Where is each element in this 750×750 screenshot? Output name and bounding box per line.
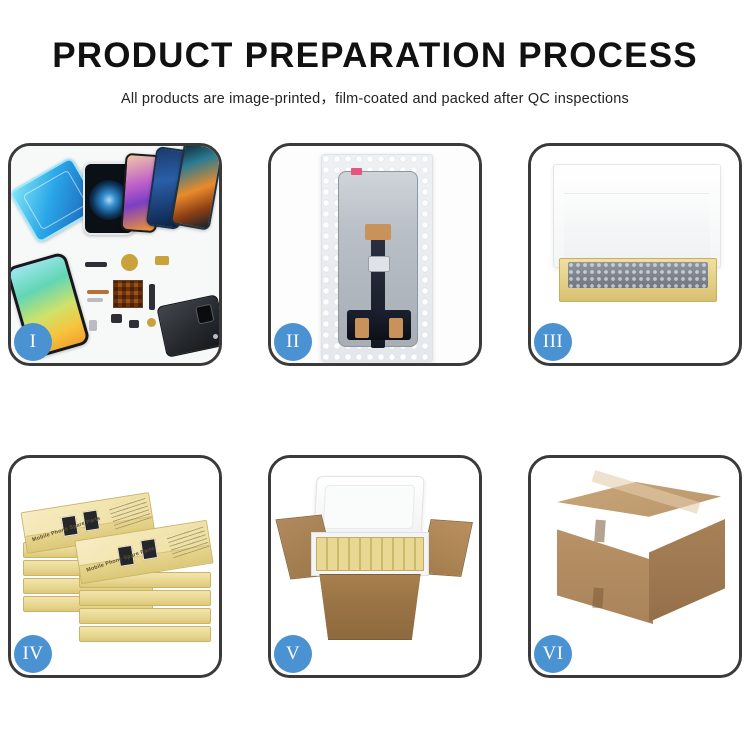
page-subtitle: All products are image-printed，film-coat… bbox=[0, 87, 750, 108]
product-preparation-process-page: PRODUCT PREPARATION PROCESS All products… bbox=[0, 0, 750, 750]
part-bracket bbox=[87, 298, 103, 302]
foam-lid-open bbox=[313, 476, 424, 538]
foam-lid-sheet bbox=[553, 164, 721, 268]
process-step-panel-4: Mobile Phone Spare Parts Mobile Phone Sp… bbox=[8, 455, 222, 678]
process-step-panel-1: I bbox=[8, 143, 222, 366]
step-badge-1: I bbox=[14, 323, 52, 361]
bubble-wrap-bag bbox=[321, 154, 433, 362]
part-vibrator-coil bbox=[121, 254, 138, 271]
lcd-connector-right bbox=[389, 318, 403, 338]
carton-seam-top bbox=[594, 520, 606, 543]
part-flex-connector bbox=[155, 256, 169, 265]
step-badge-5: V bbox=[274, 635, 312, 673]
part-camera-module bbox=[111, 314, 122, 323]
process-step-panel-5: V bbox=[268, 455, 482, 678]
process-step-panel-2: II bbox=[268, 143, 482, 366]
lcd-connector-left bbox=[355, 318, 369, 338]
process-step-grid: I II bbox=[8, 143, 742, 678]
step-badge-4: IV bbox=[14, 635, 52, 673]
carton-side-face bbox=[649, 510, 725, 622]
step-badge-6: VI bbox=[534, 635, 572, 673]
foam-liner-inner bbox=[311, 532, 429, 576]
lcd-screen-assembly bbox=[338, 171, 418, 347]
bubble-wrapped-contents bbox=[568, 262, 708, 288]
carton-seam-bottom bbox=[592, 588, 603, 609]
part-side-flex bbox=[149, 284, 155, 310]
part-screw-gold bbox=[147, 318, 156, 327]
process-step-panel-6: VI bbox=[528, 455, 742, 678]
part-antenna-flex bbox=[87, 290, 109, 294]
process-step-panel-3: III bbox=[528, 143, 742, 366]
spare-parts-cluster bbox=[85, 254, 219, 362]
phone-back-cover bbox=[156, 294, 219, 358]
page-title: PRODUCT PREPARATION PROCESS bbox=[0, 36, 750, 76]
page-header: PRODUCT PREPARATION PROCESS All products… bbox=[0, 0, 750, 108]
step-badge-2: II bbox=[274, 323, 312, 361]
part-ic-chip-grid bbox=[113, 280, 143, 308]
retail-box-stack: Mobile Phone Spare Parts Mobile Phone Sp… bbox=[19, 480, 215, 656]
carton-body-open bbox=[315, 574, 425, 640]
lcd-bottom-board bbox=[347, 310, 411, 340]
yellow-tray-box bbox=[559, 258, 717, 302]
retail-box-right-4 bbox=[79, 608, 211, 624]
part-speaker bbox=[85, 262, 107, 267]
retail-box-right-5 bbox=[79, 626, 211, 642]
step-badge-3: III bbox=[534, 323, 572, 361]
part-sim-tray bbox=[89, 320, 97, 331]
part-button-flex bbox=[129, 320, 139, 328]
retail-box-right-3 bbox=[79, 590, 211, 606]
part-screw-silver bbox=[213, 334, 218, 339]
packed-retail-boxes bbox=[316, 537, 424, 571]
